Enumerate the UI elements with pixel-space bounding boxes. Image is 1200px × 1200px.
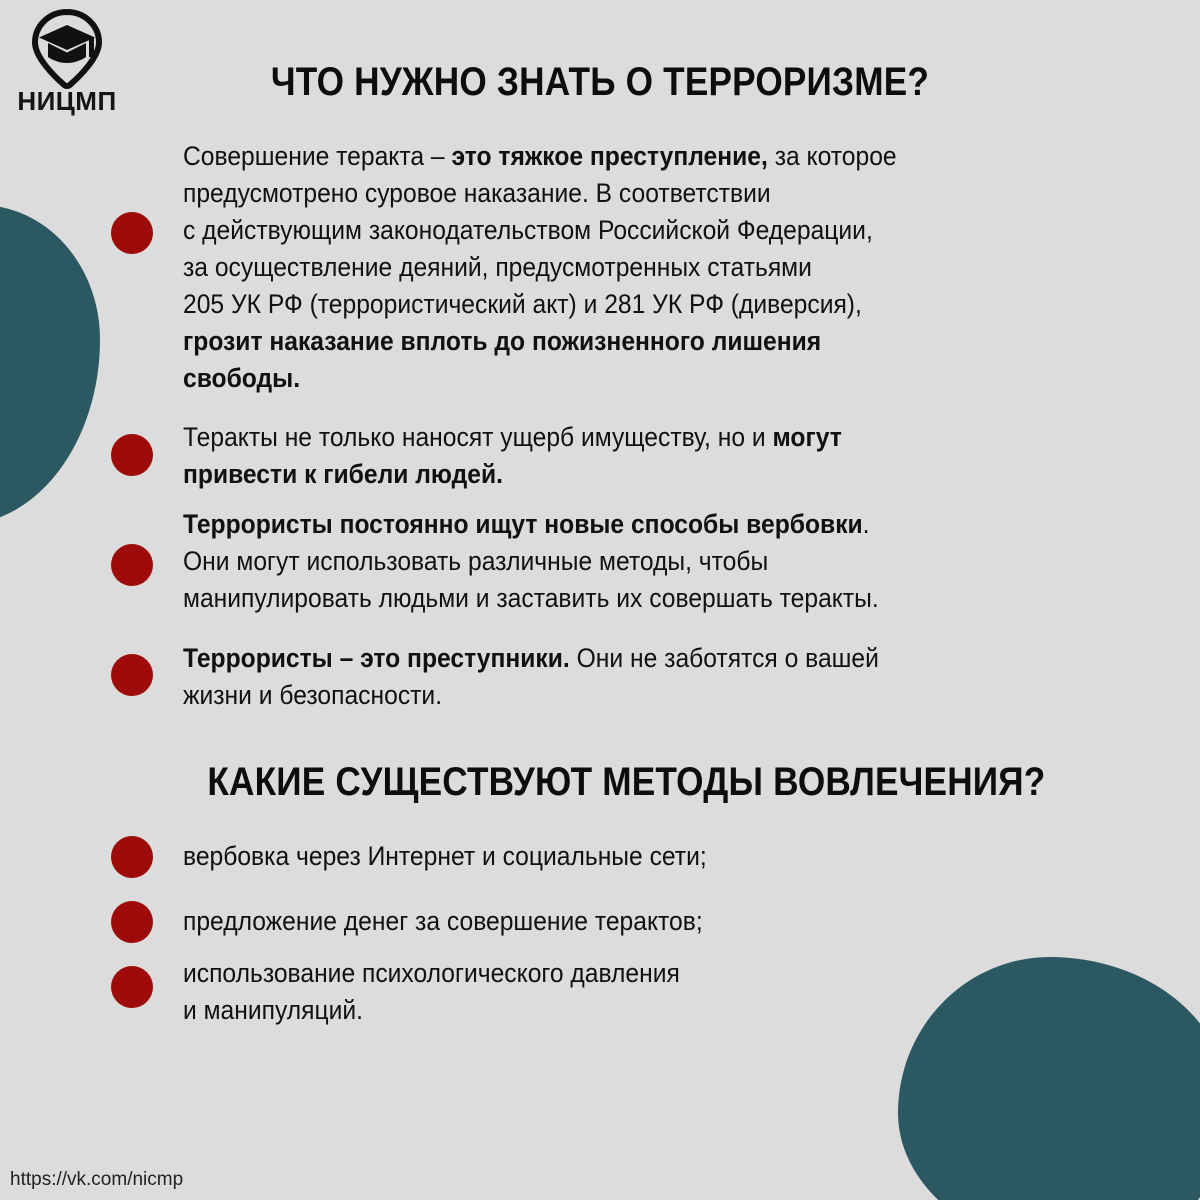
teal-blob-left [0,205,100,525]
section-title-methods: КАКИЕ СУЩЕСТВУЮТ МЕТОДЫ ВОВЛЕЧЕНИЯ? [72,760,1128,805]
bullet-dot-fact-3 [111,544,153,586]
method-item-internet: вербовка через Интернет и социальные сет… [183,838,1048,875]
method-item-pressure: использование психологического давления … [183,955,1048,1029]
footer-url[interactable]: https://vk.com/nicmp [10,1169,183,1191]
bullet-dot-method-2 [111,901,153,943]
logo: НИЦМП [12,8,122,114]
bullet-dot-method-3 [111,966,153,1008]
fact-item-recruitment: Террористы постоянно ищут новые способы … [183,506,1048,617]
bullet-dot-fact-4 [111,654,153,696]
poster-canvas: НИЦМП ЧТО НУЖНО ЗНАТЬ О ТЕРРОРИЗМЕ? Сове… [0,0,1200,1200]
method-item-money: предложение денег за совершение терактов… [183,903,1048,940]
fact-item-casualties: Теракты не только наносят ущерб имуществ… [183,419,1048,493]
bullet-dot-fact-1 [111,212,153,254]
fact-item-punishment: Совершение теракта – это тяжкое преступл… [183,138,1048,397]
map-pin-graduation-cap-icon [26,8,108,90]
logo-wordmark: НИЦМП [12,88,122,114]
bullet-dot-method-1 [111,836,153,878]
page-title: ЧТО НУЖНО ЗНАТЬ О ТЕРРОРИЗМЕ? [72,60,1128,105]
fact-item-criminals: Террористы – это преступники. Они не заб… [183,640,1048,714]
bullet-dot-fact-2 [111,434,153,476]
